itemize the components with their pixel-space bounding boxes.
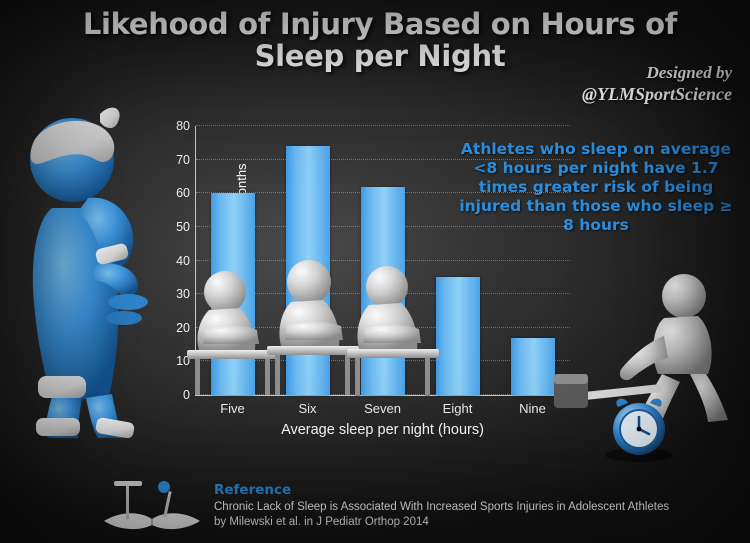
injured-athlete-figure: [0, 88, 175, 438]
designer-credit-line1: Designed by: [582, 62, 732, 83]
reference-line2: by Milewski et al. in J Pediatr Orthop 2…: [214, 515, 684, 530]
x-tick-six: Six: [270, 401, 345, 416]
designer-credit: Designed by @YLMSportScience: [582, 62, 732, 106]
reference-heading: Reference: [214, 482, 684, 498]
x-tick-eight: Eight: [420, 401, 495, 416]
x-axis-tick-labels: FiveSixSevenEightNine: [195, 401, 570, 416]
bar-eight: [436, 277, 480, 395]
y-axis-tick-label: 80: [176, 119, 190, 133]
x-axis-title: Average sleep per night (hours): [195, 422, 570, 438]
y-axis-tick-label: 60: [176, 186, 190, 200]
reference-block: Reference Chronic Lack of Sleep is Assoc…: [214, 482, 684, 530]
open-book-icon: [100, 475, 205, 537]
y-axis-tick-label: 70: [176, 153, 190, 167]
alarm-clock-icon: [598, 393, 680, 463]
bar-column: [495, 126, 570, 395]
designer-credit-line2: @YLMSportScience: [582, 83, 732, 106]
infographic-canvas: Likehood of Injury Based on Hours of Sle…: [0, 0, 750, 543]
y-axis-tick-label: 50: [176, 220, 190, 234]
x-tick-five: Five: [195, 401, 270, 416]
x-tick-seven: Seven: [345, 401, 420, 416]
sleeping-figure-at-desk-3: [345, 255, 441, 400]
reference-line1: Chronic Lack of Sleep is Associated With…: [214, 500, 684, 515]
